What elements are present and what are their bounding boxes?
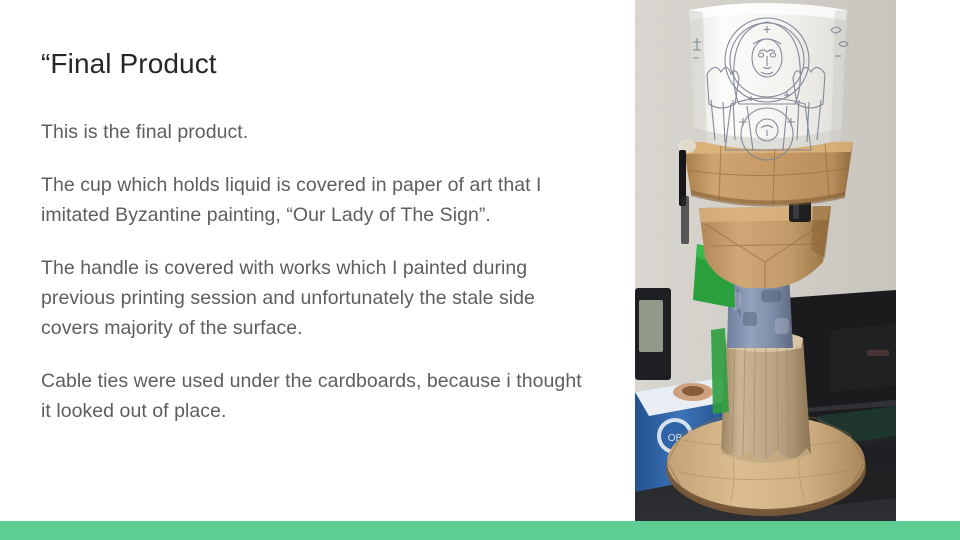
corrugated-cardboard-column	[721, 333, 811, 463]
body-paragraph-2: The cup which holds liquid is covered in…	[41, 170, 589, 230]
body-paragraph-3: The handle is covered with works which I…	[41, 253, 589, 343]
paper-cup-with-byzantine-icon-drawing	[689, 3, 848, 160]
body-paragraph-4: Cable ties were used under the cardboard…	[41, 366, 589, 426]
slide-canvas: “Final Product This is the final product…	[0, 0, 960, 540]
slide-body: This is the final product. The cup which…	[41, 117, 589, 426]
page-title: “Final Product	[41, 46, 589, 81]
accent-bar	[0, 521, 960, 540]
cardboard-band-wrap	[678, 139, 853, 207]
product-photo-illustration: OB	[635, 0, 896, 528]
slide-text-column: “Final Product This is the final product…	[41, 46, 589, 426]
product-photo: OB	[635, 0, 896, 528]
body-paragraph-1: This is the final product.	[41, 117, 589, 147]
